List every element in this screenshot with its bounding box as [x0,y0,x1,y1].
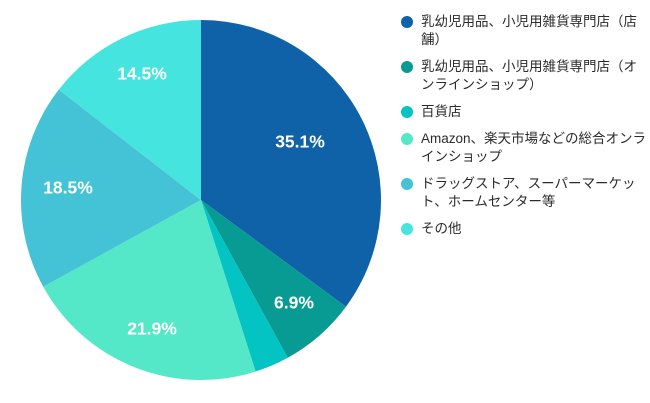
legend-item[interactable]: 乳幼児用品、小児用雑貨専門店（店舗） [401,13,650,49]
pie-slice-value-label: 18.5% [43,178,93,198]
pie-slice-value-label: 21.9% [127,319,177,339]
pie-chart-figure: 35.1%6.9%21.9%18.5%14.5% 乳幼児用品、小児用雑貨専門店（… [0,0,650,403]
legend-item-label: 百貨店 [411,103,462,121]
pie-slice-group [21,20,381,380]
legend-item-label: ドラッグストア、スーパーマーケット、ホームセンター等 [411,175,650,211]
legend-item[interactable]: その他 [401,220,650,238]
legend-item-label: 乳幼児用品、小児用雑貨専門店（オンラインショップ） [411,58,650,94]
chart-legend: 乳幼児用品、小児用雑貨専門店（店舗）乳幼児用品、小児用雑貨専門店（オンラインショ… [401,13,650,247]
pie-slice-value-label: 14.5% [117,64,167,84]
legend-item[interactable]: Amazon、楽天市場などの総合オンラインショップ [401,130,650,166]
pie-slice-value-label: 6.9% [274,293,314,313]
pie-chart-plot-area: 35.1%6.9%21.9%18.5%14.5% [0,0,400,403]
pie-slice-value-label: 35.1% [275,132,325,152]
legend-item[interactable]: ドラッグストア、スーパーマーケット、ホームセンター等 [401,175,650,211]
legend-item[interactable]: 乳幼児用品、小児用雑貨専門店（オンラインショップ） [401,58,650,94]
legend-item-label: 乳幼児用品、小児用雑貨専門店（店舗） [411,13,650,49]
legend-item[interactable]: 百貨店 [401,103,650,121]
legend-item-label: その他 [411,220,462,238]
legend-item-label: Amazon、楽天市場などの総合オンラインショップ [411,130,650,166]
pie-chart-svg: 35.1%6.9%21.9%18.5%14.5% [0,0,400,403]
